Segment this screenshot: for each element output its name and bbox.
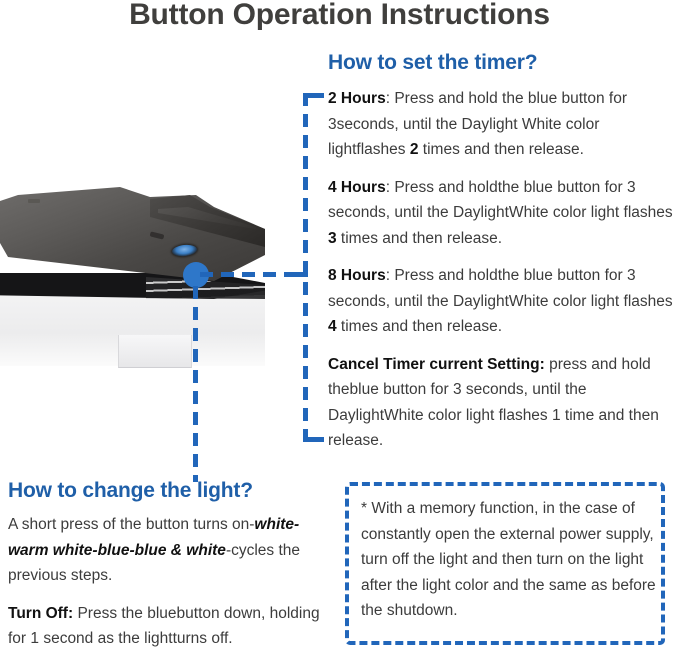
light-cycle-blue: blue [98,542,130,559]
bracket-top-arm [303,93,324,98]
light-cycle-blue-and-white: blue & white [135,542,226,559]
light-cycle-warm-white: warm white [8,542,92,559]
light-cycle-paragraph: A short press of the button turns on-whi… [8,512,338,589]
timer-item-label: 2 Hours [328,90,386,107]
connector-line-vertical [193,286,198,482]
timer-item-cancel: Cancel Timer current Setting: press and … [328,352,679,454]
product-base-panel [118,335,192,368]
timer-item-2-hours: 2 Hours: Press and hold the blue button … [328,86,679,163]
timer-item-body-2: times and then release. [418,141,583,158]
product-surface-mark [28,199,40,203]
bracket-spine [303,93,308,442]
timer-item-4-hours: 4 Hours: Press and holdthe blue button f… [328,175,679,252]
page-title: Button Operation Instructions [0,0,679,34]
timer-item-body-2: times and then release. [337,318,502,335]
timer-instruction-list: 2 Hours: Press and hold the blue button … [328,86,679,454]
product-photo [0,185,265,370]
timer-item-flash-count: 4 [328,318,337,335]
light-instruction-block: A short press of the button turns on-whi… [8,512,338,652]
timer-item-label: Cancel Timer current Setting: [328,356,545,373]
timer-item-label: 4 Hours [328,179,386,196]
instruction-sheet: Button Operation Instructions How to set… [0,0,679,653]
connector-line-horizontal [200,272,305,277]
turn-off-paragraph: Turn Off: Press the bluebutton down, hol… [8,601,338,652]
light-section-heading: How to change the light? [8,478,253,504]
timer-section-heading: How to set the timer? [328,50,537,76]
timer-item-body-2: times and then release. [337,230,502,247]
light-cycle-lead: A short press of the button turns on- [8,516,254,533]
timer-item-flash-count: 3 [328,230,337,247]
turn-off-label: Turn Off: [8,605,73,622]
bracket-bottom-arm [303,437,324,442]
timer-bracket [303,93,327,442]
timer-item-label: 8 Hours [328,267,386,284]
memory-function-note-box: * With a memory function, in the case of… [345,482,665,645]
light-cycle-dash-1: - [294,516,299,533]
memory-function-note-text: * With a memory function, in the case of… [361,496,659,624]
bracket-mid-stub [295,272,308,277]
timer-item-8-hours: 8 Hours: Press and holdthe blue button f… [328,263,679,340]
light-cycle-white: white [254,516,294,533]
